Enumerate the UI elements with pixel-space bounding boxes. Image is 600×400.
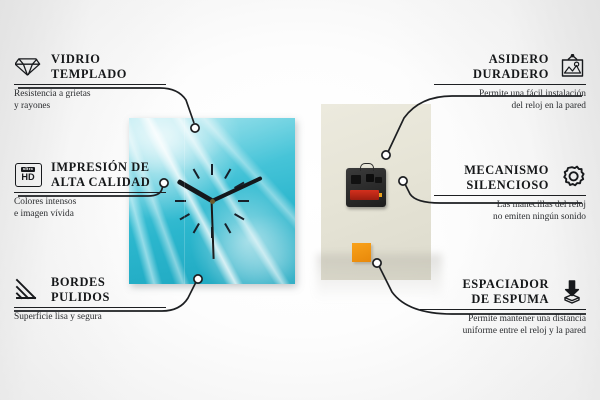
feature-divider xyxy=(14,192,166,193)
connector-dot-asidero xyxy=(382,151,390,159)
feature-description: Colores intensos e imagen vívida xyxy=(14,197,166,220)
feature-title-line1: ASIDERO xyxy=(473,52,549,67)
feature-description: Permite una fácil instalación del reloj … xyxy=(434,89,586,112)
feature-title-line1: IMPRESIÓN DE xyxy=(51,160,150,175)
infographic-canvas: VIDRIO TEMPLADO Resistencia a grietas y … xyxy=(0,0,600,400)
feature-description: Permite mantener una distancia uniforme … xyxy=(420,314,586,337)
diamond-icon xyxy=(14,54,42,80)
feature-asidero-duradero: ASIDERO DURADERO Permite una fácil insta… xyxy=(434,52,586,112)
feature-divider xyxy=(420,309,586,310)
ultra-hd-icon: ultra HD xyxy=(14,162,42,188)
polished-edges-icon xyxy=(14,277,42,303)
feature-title-line2: DURADERO xyxy=(473,67,549,82)
feature-divider xyxy=(434,195,586,196)
feature-espaciador-de-espuma: ESPACIADOR DE ESPUMA Permite mantener un… xyxy=(420,277,586,337)
feature-divider xyxy=(434,84,586,85)
feature-mecanismo-silencioso: MECANISMO SILENCIOSO Las manecillas del … xyxy=(434,163,586,223)
feature-description: Las manecillas del reloj no emiten ningú… xyxy=(434,200,586,223)
feature-bordes-pulidos: BORDES PULIDOS Superficie lisa y segura xyxy=(14,275,166,324)
down-arrow-pad-icon xyxy=(558,279,586,305)
connector-dot-mecanismo xyxy=(399,177,407,185)
feature-title-line1: ESPACIADOR xyxy=(462,277,549,292)
connector-dot-bordes xyxy=(194,275,202,283)
feature-title-line2: SILENCIOSO xyxy=(464,178,549,193)
feature-description: Resistencia a grietas y rayones xyxy=(14,89,166,112)
connector-dot-vidrio xyxy=(191,124,199,132)
feature-title-line1: BORDES xyxy=(51,275,110,290)
gear-icon xyxy=(558,165,586,191)
feature-title-line1: MECANISMO xyxy=(464,163,549,178)
feature-title-line2: DE ESPUMA xyxy=(462,292,549,307)
feature-title-line2: PULIDOS xyxy=(51,290,110,305)
feature-divider xyxy=(14,84,166,85)
feature-impresion-alta-calidad: ultra HD IMPRESIÓN DE ALTA CALIDAD Color… xyxy=(14,160,166,220)
connector-dot-espaciador xyxy=(373,259,381,267)
feature-title-line2: TEMPLADO xyxy=(51,67,127,82)
feature-title-line1: VIDRIO xyxy=(51,52,127,67)
feature-title-line2: ALTA CALIDAD xyxy=(51,175,150,190)
feature-divider xyxy=(14,307,166,308)
feature-description: Superficie lisa y segura xyxy=(14,312,166,323)
hanging-frame-icon xyxy=(558,54,586,80)
ultra-hd-icon-main-text: HD xyxy=(21,173,34,182)
feature-vidrio-templado: VIDRIO TEMPLADO Resistencia a grietas y … xyxy=(14,52,166,112)
